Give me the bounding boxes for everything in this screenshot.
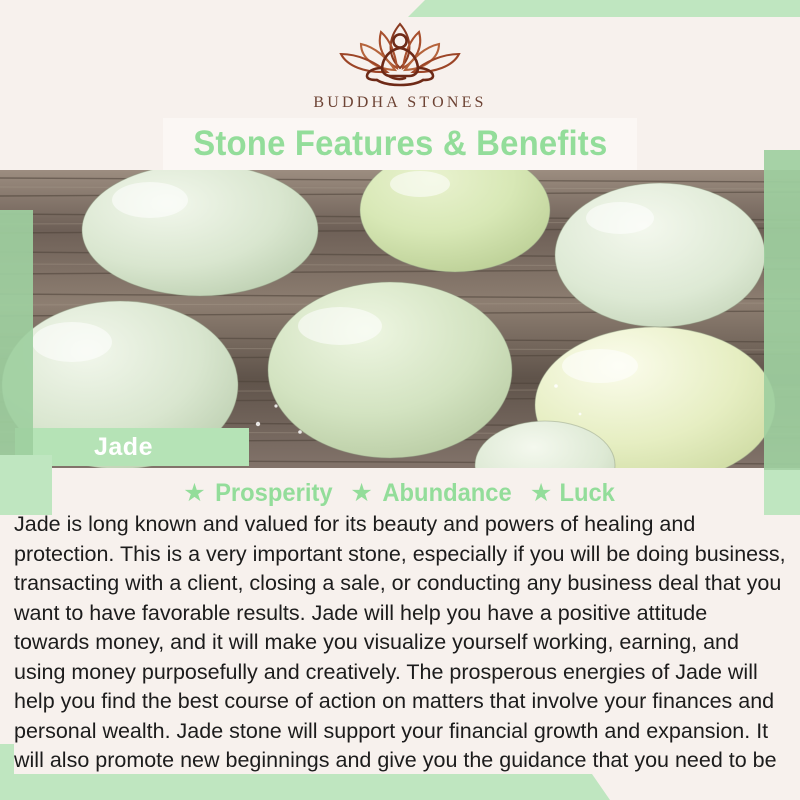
decoration-green-right-lower-bar bbox=[764, 470, 800, 515]
benefit-label: Prosperity bbox=[215, 479, 332, 508]
lotus-meditation-figure-icon bbox=[325, 18, 475, 90]
title-banner: Stone Features & Benefits bbox=[163, 118, 637, 170]
benefit-label: Luck bbox=[560, 479, 615, 508]
stone-name-text: Jade bbox=[94, 433, 153, 462]
brand-logo: BUDDHA STONES bbox=[0, 18, 800, 112]
page-title: Stone Features & Benefits bbox=[193, 124, 607, 164]
star-icon: ★ bbox=[183, 481, 205, 506]
description-block: Jade is long known and valued for its be… bbox=[14, 510, 788, 800]
star-icon: ★ bbox=[350, 481, 372, 506]
decoration-green-left-lower-bar bbox=[0, 455, 52, 515]
benefit-item: ★ Prosperity bbox=[183, 479, 335, 508]
brand-name: BUDDHA STONES bbox=[0, 94, 800, 112]
description-paragraph: Jade is long known and valued for its be… bbox=[14, 510, 788, 800]
benefit-item: ★ Abundance bbox=[350, 479, 515, 508]
benefit-label: Abundance bbox=[382, 479, 511, 508]
decoration-green-top-bar bbox=[0, 0, 800, 17]
decoration-green-bottom-left-tab bbox=[0, 744, 14, 774]
benefit-item: ★ Luck bbox=[530, 479, 617, 508]
hero-photo bbox=[0, 170, 800, 468]
decoration-green-right-bar bbox=[764, 150, 800, 490]
benefits-row: ★ Prosperity ★ Abundance ★ Luck bbox=[0, 479, 800, 508]
star-icon: ★ bbox=[530, 481, 552, 506]
infographic-card: BUDDHA STONES Stone Features & Benefits … bbox=[0, 0, 800, 800]
